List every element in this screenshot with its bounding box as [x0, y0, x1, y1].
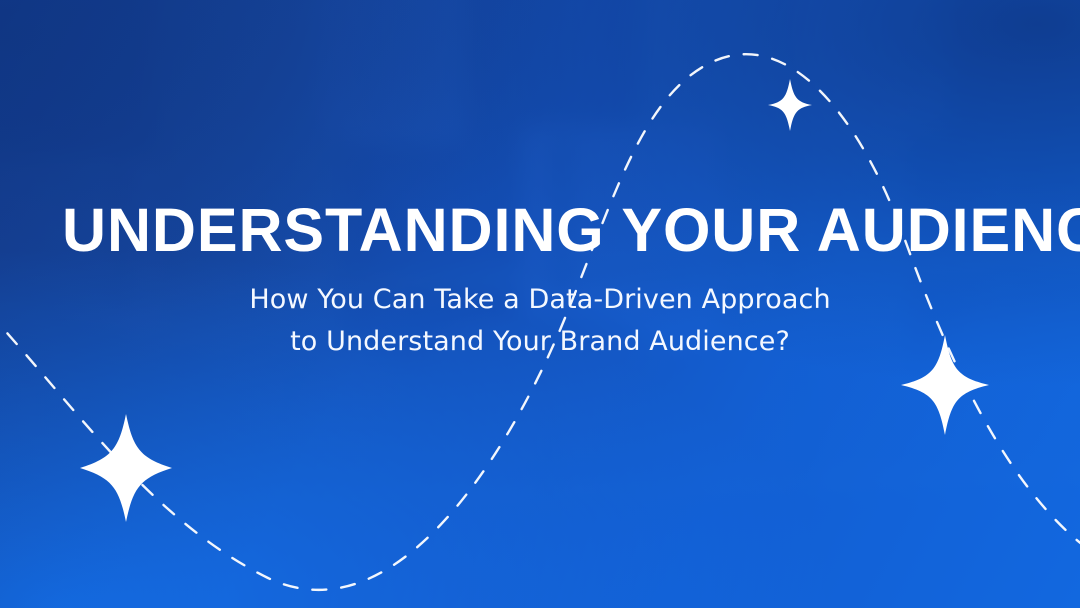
banner-content: Understanding Your Audience How You Can …	[0, 0, 1080, 608]
page-subtitle-line-2: to Understand Your Brand Audience?	[0, 321, 1080, 363]
page-subtitle-line-1: How You Can Take a Data-Driven Approach	[0, 279, 1080, 321]
page-subtitle: How You Can Take a Data-Driven Approach …	[0, 279, 1080, 363]
presentation-banner: Understanding Your Audience How You Can …	[0, 0, 1080, 608]
page-title: Understanding Your Audience	[62, 200, 1022, 261]
